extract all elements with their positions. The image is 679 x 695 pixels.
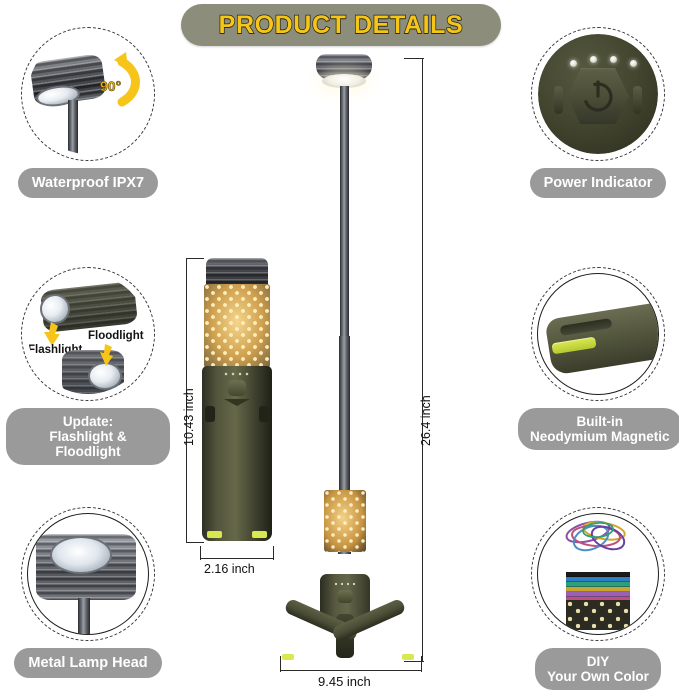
extended-tripod-lamp <box>298 46 418 666</box>
lantern-height-tick-top <box>186 258 204 259</box>
feature-power-label: Power Indicator <box>530 168 667 198</box>
feature-power: Power Indicator <box>518 26 678 198</box>
lantern-power-button-icon[interactable] <box>228 380 246 396</box>
side-groove-right <box>633 86 642 114</box>
feature-magnetic-art <box>538 274 658 394</box>
pole <box>78 598 90 634</box>
page-title: PRODUCT DETAILS <box>219 11 464 40</box>
feature-diy-label: DIY Your Own Color <box>535 648 661 690</box>
tripod-spread-tick-right <box>421 656 422 672</box>
hub-leds <box>334 582 356 586</box>
feature-magnetic: Built-in Neodymium Magnetic <box>518 266 678 450</box>
feature-magnetic-label-line2: Neodymium Magnetic <box>530 429 670 444</box>
feature-lamphead: Metal Lamp Head <box>4 506 172 678</box>
feature-waterproof: 90° Waterproof IPX7 <box>4 26 172 198</box>
lantern-foot-left <box>207 531 222 538</box>
battery-led-4 <box>630 60 637 67</box>
lantern-chevron <box>224 399 250 406</box>
feature-diy-image <box>518 506 678 642</box>
tripod-spread-label: 9.45 inch <box>318 674 371 689</box>
rotation-angle-label: 90° <box>100 78 121 94</box>
pole-segment-2 <box>339 336 350 496</box>
feature-update-label-line2: Flashlight & Floodlight <box>18 429 158 459</box>
floodlight-callout-label: Floodlight <box>88 330 144 342</box>
product-details-infographic: PRODUCT DETAILS 90° <box>0 0 679 695</box>
feature-magnetic-label-line1: Built-in <box>530 414 670 429</box>
feature-lamphead-label: Metal Lamp Head <box>14 648 161 678</box>
lantern-vent-right <box>259 406 269 422</box>
pole <box>68 100 78 154</box>
feature-diy-art <box>538 514 658 634</box>
feature-power-art <box>538 34 658 154</box>
lamp-lens-icon <box>50 536 112 574</box>
collapsed-lantern <box>200 258 274 543</box>
lantern-width-label: 2.16 inch <box>204 562 255 576</box>
tripod-tip-left <box>282 654 294 660</box>
extended-height-line <box>422 58 423 662</box>
feature-waterproof-art: 90° <box>28 34 148 154</box>
feature-lamphead-image <box>4 506 172 642</box>
lantern-width-tick-left <box>200 546 201 560</box>
page-title-banner: PRODUCT DETAILS <box>181 4 501 46</box>
lantern-width-line <box>200 558 274 559</box>
feature-update-label-line1: Update: <box>18 414 158 429</box>
lantern-leds <box>224 372 250 376</box>
feature-waterproof-image: 90° <box>4 26 172 162</box>
feature-magnetic-image <box>518 266 678 402</box>
feature-diy-label-line1: DIY <box>547 654 649 669</box>
pole-segment-1 <box>340 86 349 341</box>
feature-update: Flashlight Floodlight Update: Flashlight… <box>4 266 172 465</box>
lantern-height-label: 10.43 inch <box>182 388 196 446</box>
feature-update-image: Flashlight Floodlight <box>4 266 172 402</box>
feature-diy-label-line2: Your Own Color <box>547 669 649 684</box>
lantern-diffuser <box>204 284 270 368</box>
battery-led-3 <box>610 56 617 63</box>
extended-diffuser-collar <box>324 490 366 552</box>
extended-height-label: 26.4 inch <box>419 395 433 446</box>
feature-diy: DIY Your Own Color <box>518 506 678 690</box>
battery-led-2 <box>590 56 597 63</box>
lantern-foot-right <box>252 531 267 538</box>
feature-update-art: Flashlight Floodlight <box>28 274 148 394</box>
lantern-vent-left <box>205 406 215 422</box>
tripod-spread-line <box>280 670 422 671</box>
lantern-cap <box>206 258 268 286</box>
side-groove-left <box>554 86 563 114</box>
tripod-tip-right <box>402 654 414 660</box>
lantern-width-tick-right <box>273 546 274 560</box>
tripod-spread-tick-left <box>280 656 281 672</box>
feature-lamphead-art <box>28 514 148 634</box>
lantern-height-tick-bottom <box>186 542 204 543</box>
feature-update-label: Update: Flashlight & Floodlight <box>6 408 170 465</box>
feature-power-image <box>518 26 678 162</box>
feature-waterproof-label: Waterproof IPX7 <box>18 168 158 198</box>
battery-led-1 <box>570 60 577 67</box>
lantern-body <box>202 366 272 541</box>
diy-mesh-body <box>566 600 630 630</box>
hub-power-button-icon[interactable] <box>338 590 353 603</box>
feature-magnetic-label: Built-in Neodymium Magnetic <box>518 408 679 450</box>
floodlight-pointer-arrow-icon <box>98 344 114 368</box>
center-product-area: 10.43 inch 2.16 inch 26.4 <box>170 46 510 695</box>
device-body <box>544 300 658 375</box>
extended-height-tick-top <box>404 58 424 59</box>
rubber-bands-icon <box>558 518 638 554</box>
